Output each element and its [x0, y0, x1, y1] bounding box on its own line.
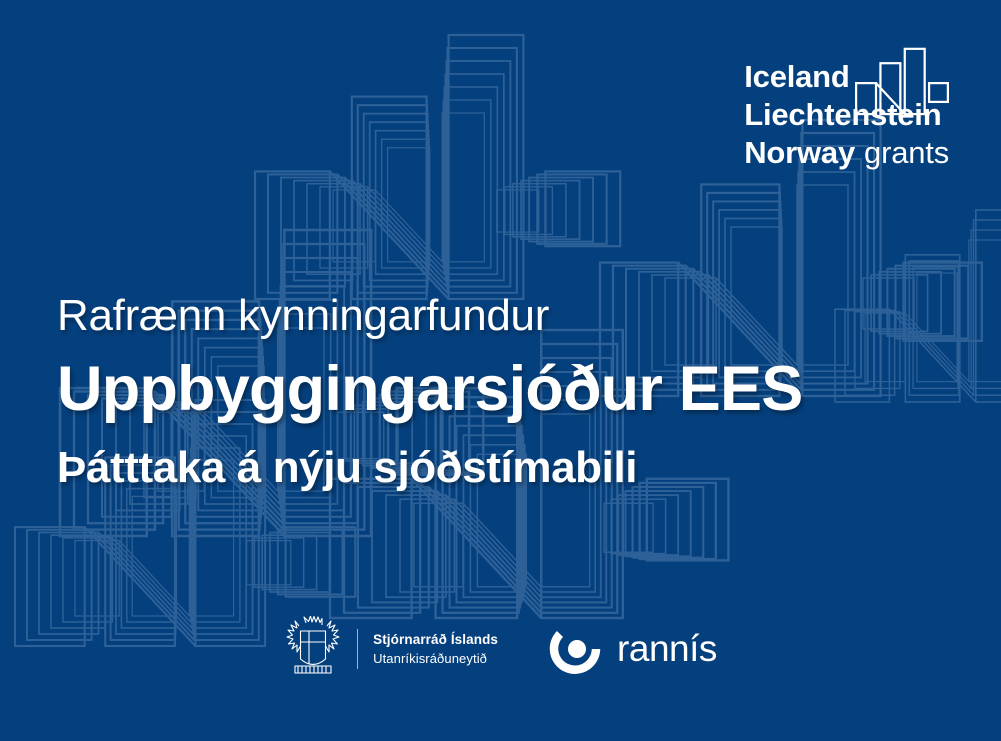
government-name: Stjórnarráð Íslands: [373, 631, 498, 648]
government-of-iceland-logo: Stjórnarráð Íslands Utanríkisráðuneytið: [284, 616, 498, 682]
grants-logo-line-norway: Norway: [744, 134, 855, 172]
headline-block: Rafrænn kynningarfundur Uppbyggingarsjóð…: [57, 289, 957, 495]
logo-divider: [357, 629, 358, 669]
iceland-coat-of-arms-icon: [284, 616, 342, 682]
government-logo-text: Stjórnarráð Íslands Utanríkisráðuneytið: [373, 631, 498, 667]
rannis-wordmark: rannís: [617, 629, 717, 669]
presentation-slide: Iceland Liechtenstein Norway grants Rafr…: [0, 0, 1001, 741]
government-department: Utanríkisráðuneytið: [373, 650, 498, 667]
n-bars-mark-icon: [855, 46, 949, 118]
page-title: Uppbyggingarsjóður EES: [57, 351, 957, 427]
grants-logo-line-iceland: Iceland: [744, 58, 849, 96]
iceland-liechtenstein-norway-grants-logo: Iceland Liechtenstein Norway grants: [744, 58, 949, 174]
rannis-eye-mark-icon: [548, 623, 610, 675]
grants-logo-line-grants: grants: [864, 134, 949, 172]
partner-logo-strip: Stjórnarráð Íslands Utanríkisráðuneytið …: [0, 604, 1001, 694]
page-subtitle: Þátttaka á nýju sjóðstímabili: [57, 441, 957, 495]
rannis-logo: rannís: [548, 623, 717, 675]
eyebrow-text: Rafrænn kynningarfundur: [57, 289, 957, 343]
